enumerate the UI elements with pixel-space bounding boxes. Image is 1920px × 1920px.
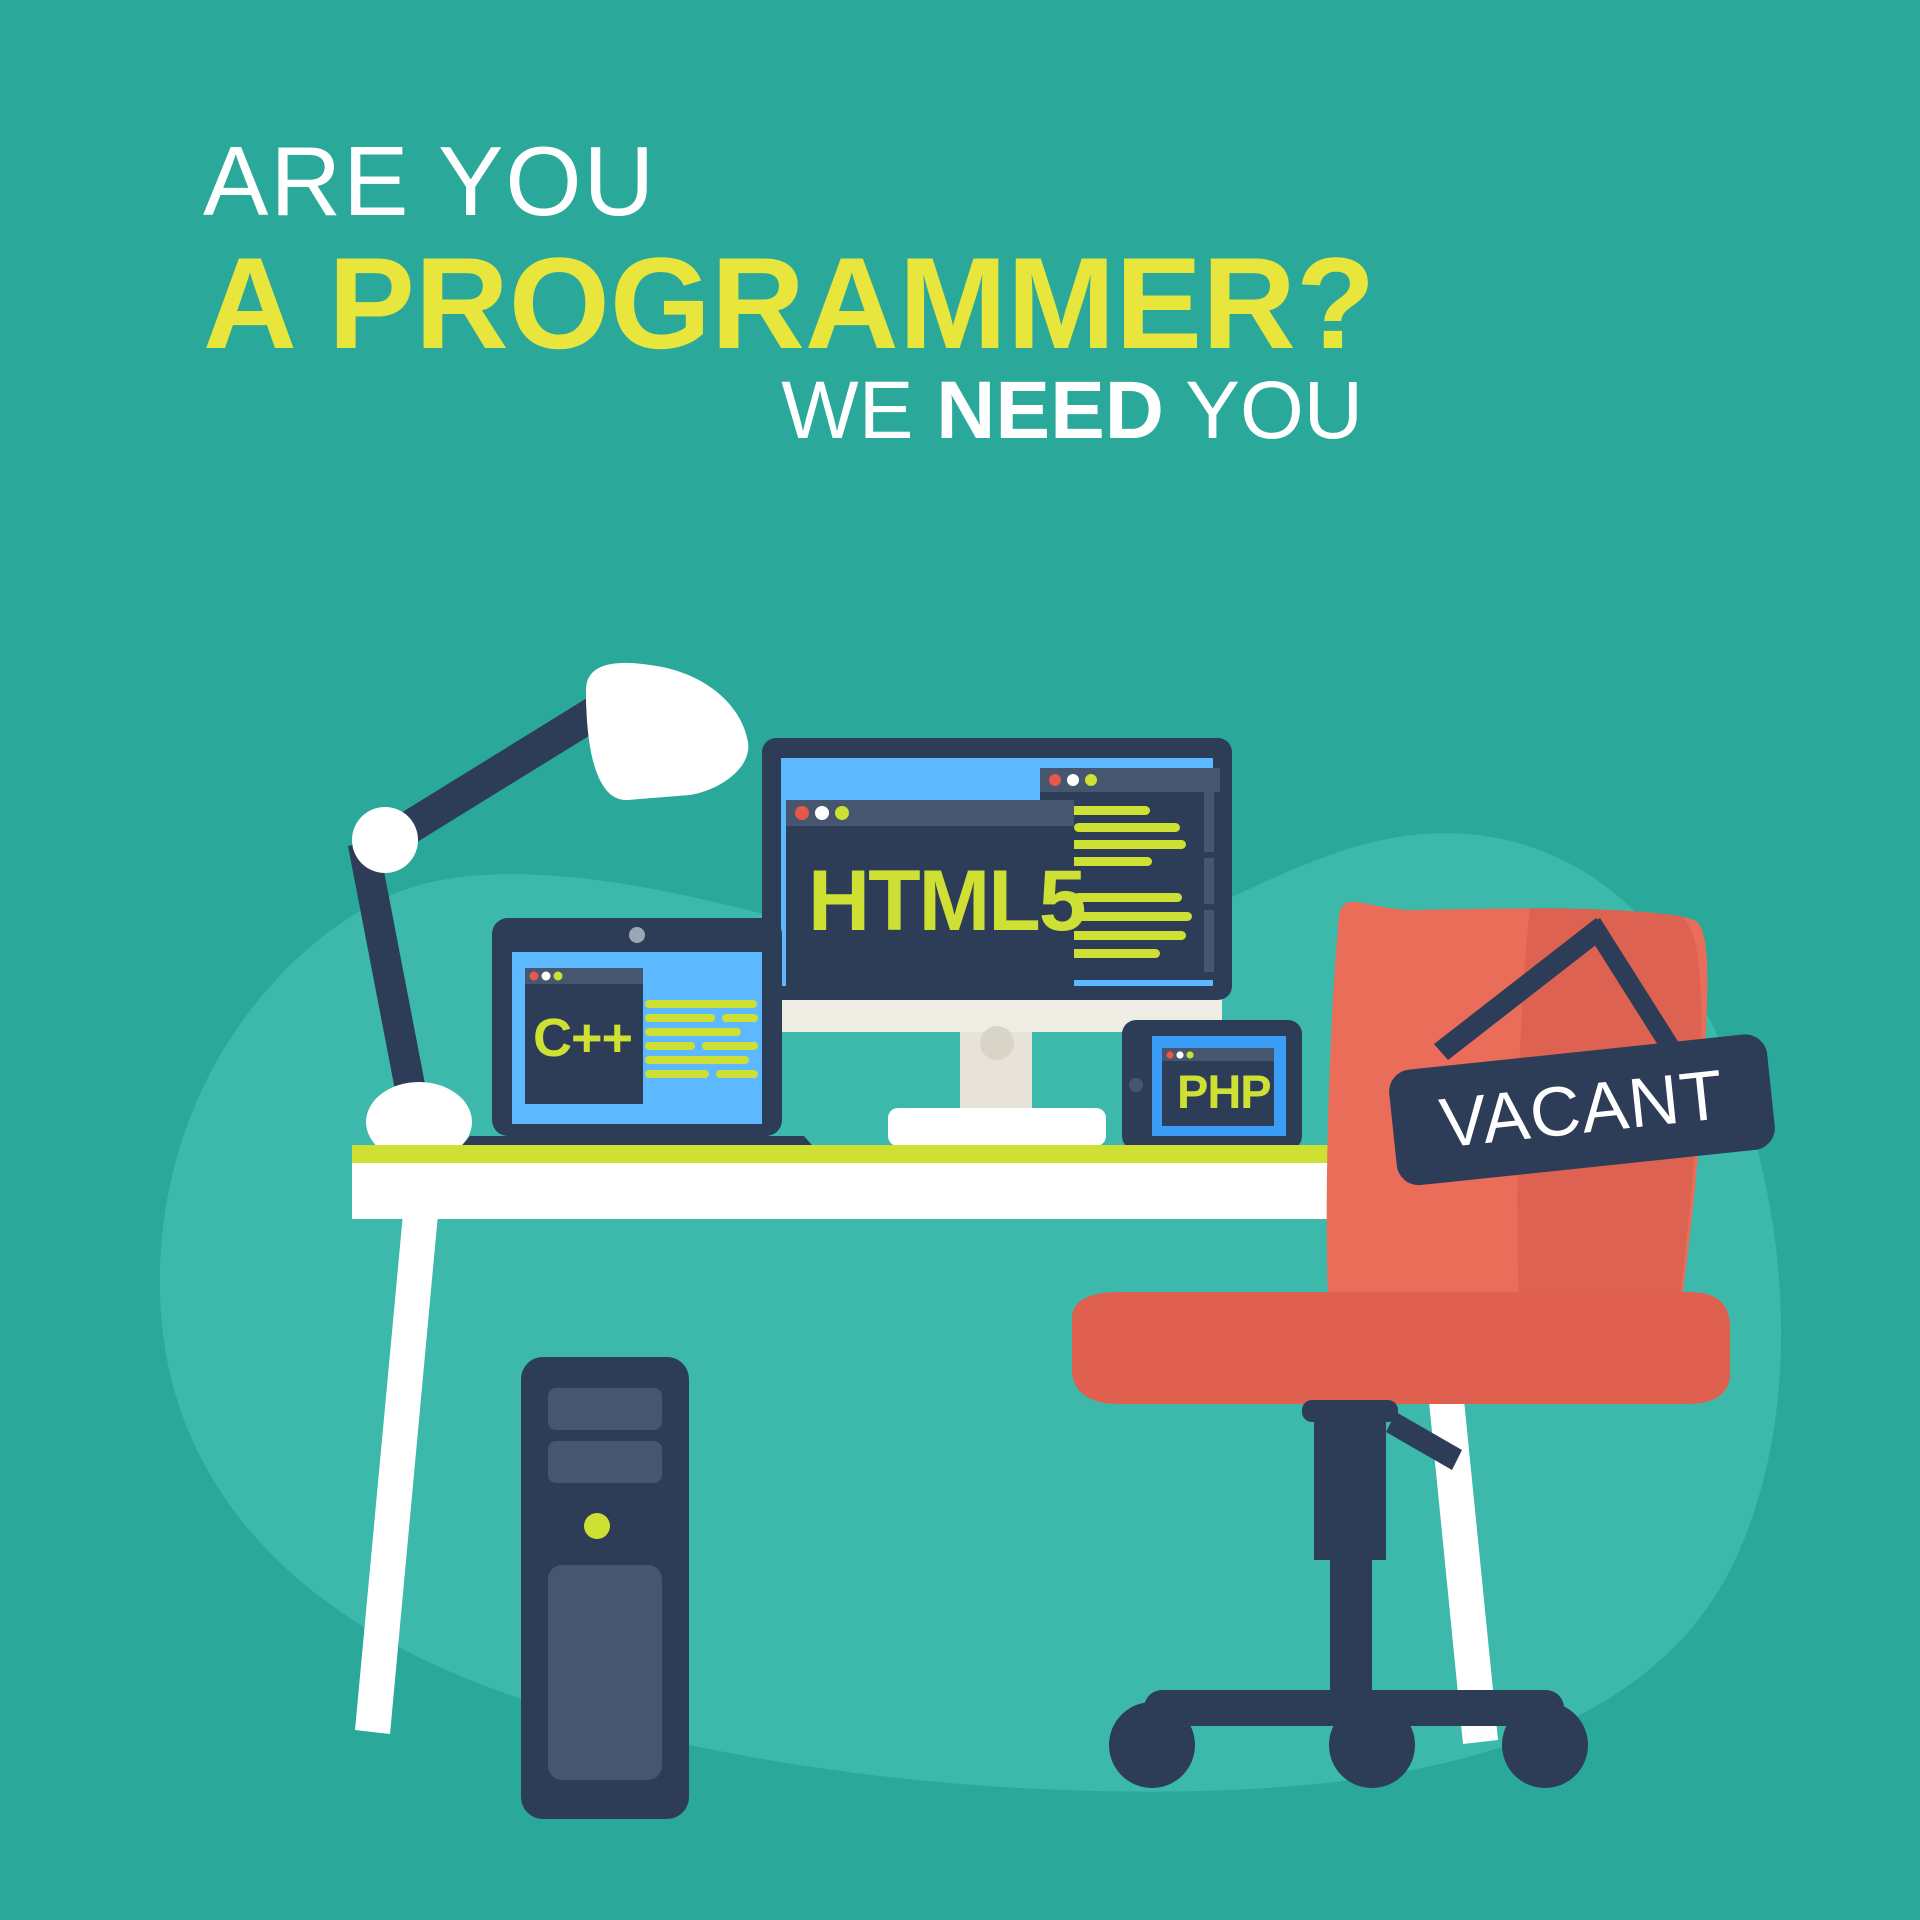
tablet-code-window: PHP	[1162, 1048, 1274, 1126]
chair-wheel-center	[1329, 1702, 1415, 1788]
headline-you: YOU	[1164, 365, 1363, 456]
chair-seat	[1072, 1292, 1730, 1404]
monitor-foot	[888, 1108, 1106, 1146]
window-dot-green	[835, 806, 849, 820]
desk	[352, 1145, 1352, 1219]
tower-slot-2	[548, 1441, 662, 1483]
headline-line-1: ARE YOU	[203, 126, 656, 236]
laptop-language-label: C++	[533, 1008, 632, 1068]
lamp-joint	[352, 807, 418, 873]
tower-front-panel	[548, 1565, 662, 1780]
tower-power-led[interactable]	[584, 1513, 610, 1539]
monitor-power-dot	[980, 1026, 1014, 1060]
tablet-language-label: PHP	[1177, 1065, 1271, 1118]
chair-wheel-right	[1502, 1702, 1588, 1788]
tower-slot-1	[548, 1388, 662, 1430]
laptop-code-window: C++	[525, 968, 643, 1104]
chair-cylinder-lower	[1330, 1550, 1372, 1710]
headline-line-3: WE NEED YOU	[781, 365, 1363, 456]
laptop-camera	[629, 927, 645, 943]
laptop[interactable]: C++	[456, 918, 818, 1152]
tablet-home-button[interactable]	[1129, 1078, 1143, 1092]
tablet[interactable]: PHP	[1122, 1020, 1302, 1150]
poster-canvas: ARE YOU A PROGRAMMER? WE NEED YOU	[0, 0, 1920, 1920]
chair-cylinder	[1314, 1400, 1386, 1560]
window-dot-red	[795, 806, 809, 820]
headline-need: NEED	[936, 365, 1164, 456]
headline-we: WE	[781, 365, 936, 456]
window-dot-white	[815, 806, 829, 820]
pc-tower[interactable]	[521, 1357, 689, 1819]
desk-top	[352, 1163, 1352, 1219]
chair-wheel-left	[1109, 1702, 1195, 1788]
monitor-front-code-window: HTML5	[786, 800, 1085, 986]
headline-line-2: A PROGRAMMER?	[203, 230, 1375, 376]
monitor-language-label: HTML5	[808, 853, 1085, 949]
